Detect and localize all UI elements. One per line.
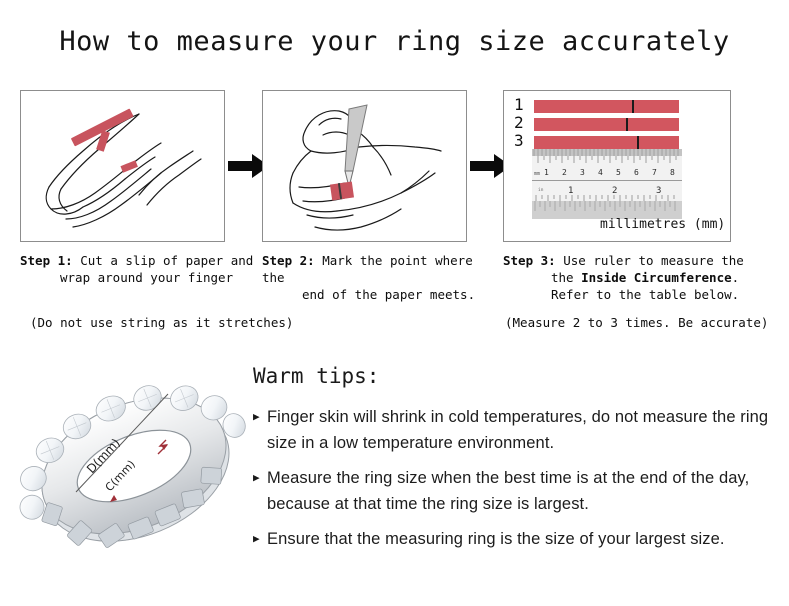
- measured-strip-3: [534, 136, 679, 149]
- paper-strip-marked: [330, 182, 354, 201]
- ring-size-guide-page: How to measure your ring size accurately: [0, 0, 789, 606]
- strip-mark-3: [637, 136, 639, 149]
- silver-eternity-ring-with-stones: D(mm) C(mm): [18, 352, 250, 580]
- page-title: How to measure your ring size accurately: [0, 26, 789, 57]
- step-3-line2-prefix: the: [551, 270, 581, 285]
- warm-tips-section: Warm tips: ▶ Finger skin will shrink in …: [253, 364, 773, 561]
- step-2-image-panel: [262, 90, 467, 242]
- strip-mark-1: [632, 100, 634, 113]
- bullet-triangle-icon: ▶: [253, 526, 267, 552]
- tip-item: ▶ Measure the ring size when the best ti…: [253, 465, 773, 517]
- svg-text:7: 7: [652, 168, 657, 177]
- step-3-caption: Step 3: Use ruler to measure the the Ins…: [503, 252, 773, 303]
- bullet-triangle-icon: ▶: [253, 404, 267, 430]
- step-2-caption: Step 2: Mark the point where the end of …: [262, 252, 502, 303]
- warm-tips-heading: Warm tips:: [253, 364, 773, 388]
- svg-text:2: 2: [612, 186, 617, 196]
- step-3-line3: Refer to the table below.: [503, 286, 773, 303]
- svg-text:8: 8: [670, 168, 675, 177]
- step-1-caption: Step 1: Cut a slip of paper and wrap aro…: [20, 252, 260, 286]
- ring-diagram: D(mm) C(mm): [18, 352, 250, 580]
- step-3-line1: Use ruler to measure the: [563, 253, 744, 268]
- hand-marking-paper-with-pen-illustration: [263, 91, 467, 242]
- measured-strip-2: [534, 118, 679, 131]
- svg-text:4: 4: [598, 168, 603, 177]
- strip-number-3: 3: [514, 131, 524, 150]
- tip-text-1: Finger skin will shrink in cold temperat…: [267, 404, 773, 456]
- svg-text:5: 5: [616, 168, 621, 177]
- svg-text:mm: mm: [534, 171, 540, 177]
- step-1-note: (Do not use string as it stretches): [30, 315, 293, 330]
- svg-text:1: 1: [568, 186, 573, 196]
- step-2-label: Step 2:: [262, 253, 315, 268]
- tip-text-2: Measure the ring size when the best time…: [267, 465, 773, 517]
- ruler-illustration: 123 456 78 mm 123 in: [532, 149, 682, 219]
- step-2-line2: end of the paper meets.: [262, 286, 502, 303]
- strip-number-2: 2: [514, 113, 524, 132]
- hand-with-paper-strip-illustration: [21, 91, 225, 242]
- step-3-line2: the Inside Circumference.: [503, 269, 773, 286]
- strip-mark-2: [626, 118, 628, 131]
- svg-text:in: in: [538, 187, 544, 193]
- step-3-note: (Measure 2 to 3 times. Be accurate): [505, 315, 768, 330]
- step-3-line2-suffix: .: [732, 270, 740, 285]
- tip-item: ▶ Finger skin will shrink in cold temper…: [253, 404, 773, 456]
- step-1-image-panel: [20, 90, 225, 242]
- step-1-label: Step 1:: [20, 253, 73, 268]
- step-3-label: Step 3:: [503, 253, 556, 268]
- strip-number-1: 1: [514, 95, 524, 114]
- measured-strip-1: [534, 100, 679, 113]
- tip-text-3: Ensure that the measuring ring is the si…: [267, 526, 725, 552]
- step-1-line2: wrap around your finger: [20, 269, 260, 286]
- svg-text:3: 3: [580, 168, 585, 177]
- tip-item: ▶ Ensure that the measuring ring is the …: [253, 526, 773, 552]
- inside-circumference-emphasis: Inside Circumference: [581, 270, 732, 285]
- svg-text:6: 6: [634, 168, 639, 177]
- millimetres-label: millimetres (mm): [600, 217, 725, 232]
- step-3-image-panel: 1 2 3 123 456 78 mm: [503, 90, 731, 242]
- step-1-line1: Cut a slip of paper and: [80, 253, 253, 268]
- svg-text:1: 1: [544, 168, 549, 177]
- bullet-triangle-icon: ▶: [253, 465, 267, 491]
- svg-text:2: 2: [562, 168, 567, 177]
- svg-text:3: 3: [656, 186, 661, 196]
